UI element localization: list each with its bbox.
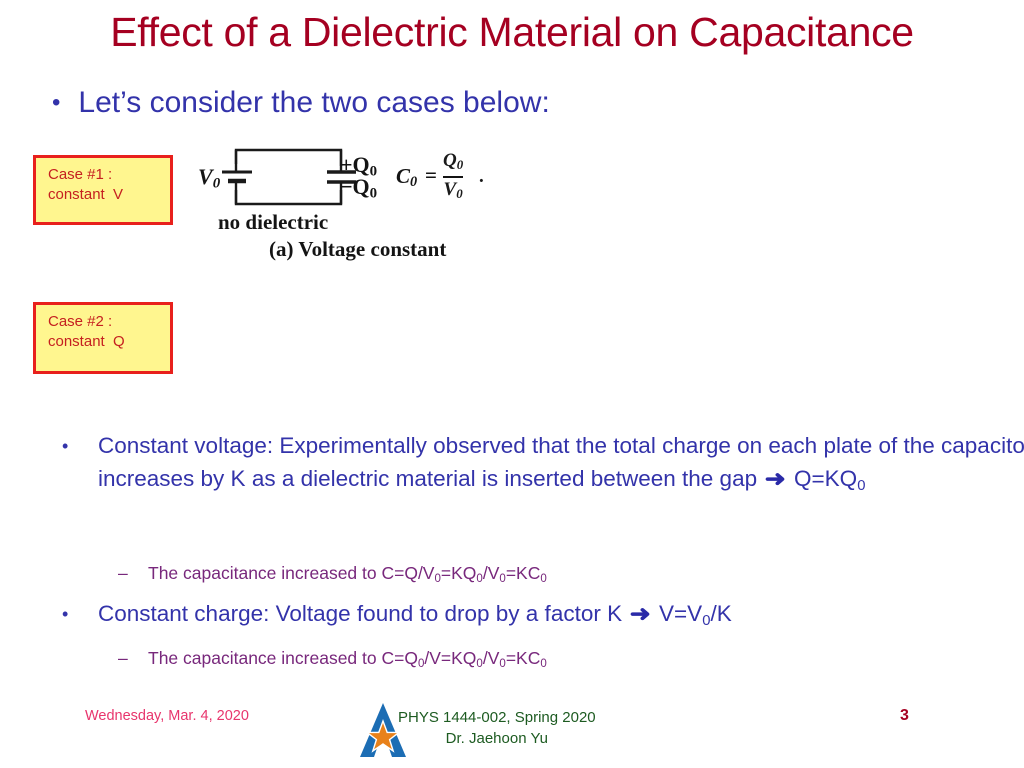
figure-caption: (a) Voltage constant xyxy=(269,237,446,262)
case-1-box: Case #1 : constant V xyxy=(33,155,173,225)
arrow-right-icon: ➜ xyxy=(627,598,655,631)
intro-bullet-text: Let’s consider the two cases below: xyxy=(78,84,549,122)
bullet-marker-icon: • xyxy=(52,84,60,122)
bullet-constant-charge-text: Constant charge: Voltage found to drop b… xyxy=(98,601,628,626)
page-title: Effect of a Dielectric Material on Capac… xyxy=(0,8,1024,56)
case-2-box: Case #2 : constant Q xyxy=(33,302,173,374)
subbullet-constant-voltage-text: The capacitance increased to C=Q/V0=KQ0/… xyxy=(148,563,547,583)
fraction-denominator: V0 xyxy=(443,179,463,204)
capacitance-symbol-label: C0 xyxy=(396,164,417,191)
bullet-constant-charge: • Constant charge: Voltage found to drop… xyxy=(0,598,1024,638)
footer-date: Wednesday, Mar. 4, 2020 xyxy=(85,708,249,724)
case-2-title: Case #2 : xyxy=(48,312,160,332)
footer-course-info: PHYS 1444-002, Spring 2020 Dr. Jaehoon Y… xyxy=(398,707,596,749)
case-1-condition: constant V xyxy=(48,185,160,205)
footer-instructor: Dr. Jaehoon Yu xyxy=(398,728,596,749)
bullet-marker-icon: • xyxy=(62,430,68,463)
bullet-constant-voltage-formula: Q=KQ xyxy=(788,466,857,491)
case-1-title: Case #1 : xyxy=(48,165,160,185)
bullet-constant-charge-formula-b: /K xyxy=(710,601,731,626)
dash-marker-icon: – xyxy=(118,560,128,586)
subbullet-constant-voltage: – The capacitance increased to C=Q/V0=KQ… xyxy=(0,560,1024,592)
bullet-constant-charge-formula-a: V=V xyxy=(653,601,702,626)
subbullet-constant-charge: – The capacitance increased to C=Q0/V=KQ… xyxy=(0,645,1024,677)
page-number: 3 xyxy=(900,707,909,725)
circuit-loop-wire xyxy=(236,150,341,204)
negative-charge-label: −Q0 xyxy=(340,174,377,202)
no-dielectric-note: no dielectric xyxy=(218,210,328,235)
fraction-numerator: Q0 xyxy=(443,150,463,175)
subbullet-constant-charge-text: The capacitance increased to C=Q0/V=KQ0/… xyxy=(148,648,547,668)
footer-course: PHYS 1444-002, Spring 2020 xyxy=(398,709,596,726)
circuit-figure: V0 +Q0 −Q0 C0 = Q0 V0 . no dielectric (a… xyxy=(196,142,526,267)
capacitance-fraction: Q0 V0 xyxy=(443,150,463,204)
bullet-constant-voltage: • Constant voltage: Experimentally obser… xyxy=(0,430,1024,502)
source-voltage-label: V0 xyxy=(198,164,220,192)
arrow-right-icon: ➜ xyxy=(762,463,790,496)
fraction-bar xyxy=(443,176,463,178)
bullet-constant-voltage-formula-sub: 0 xyxy=(857,478,865,494)
bullet-marker-icon: • xyxy=(62,598,68,631)
dash-marker-icon: – xyxy=(118,645,128,671)
fraction-trailing-dot: . xyxy=(479,166,484,188)
case-2-condition: constant Q xyxy=(48,332,160,352)
intro-bullet: • Let’s consider the two cases below: xyxy=(52,84,550,122)
bullet-constant-voltage-text: Constant voltage: Experimentally observe… xyxy=(98,433,1024,491)
equals-sign: = xyxy=(425,163,437,188)
